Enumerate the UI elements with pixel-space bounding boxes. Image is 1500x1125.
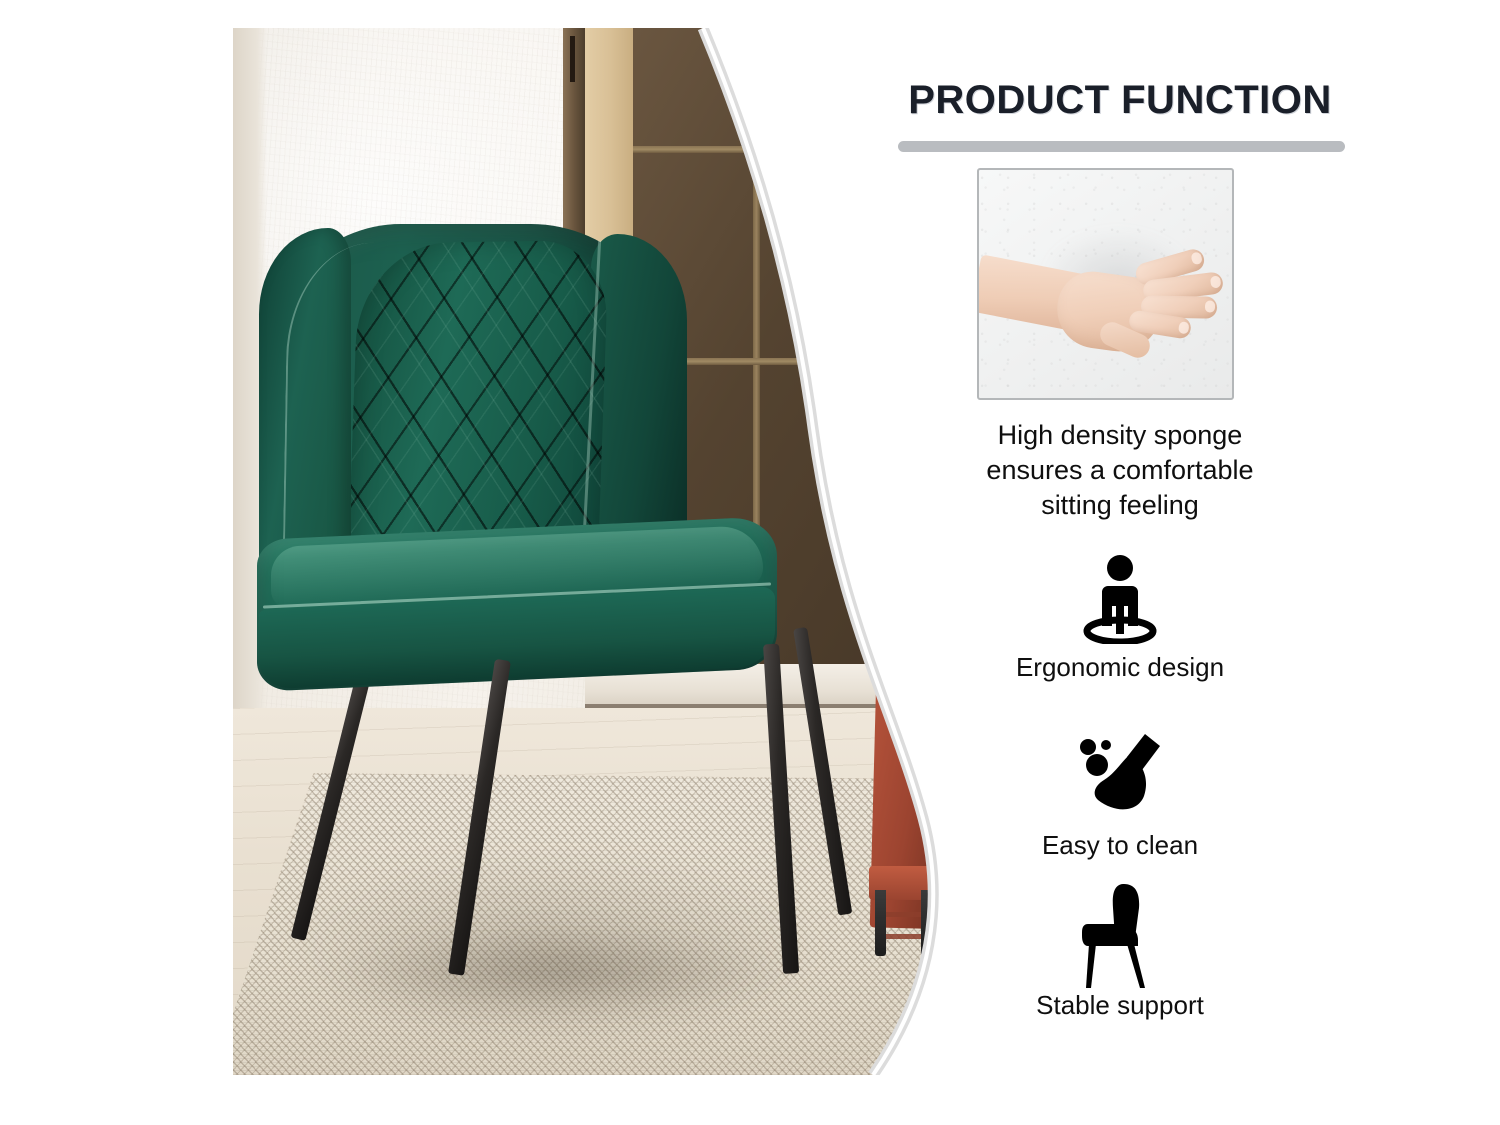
feature-label-stable-support: Stable support xyxy=(820,990,1420,1021)
high-density-foam-photo xyxy=(977,168,1234,400)
foam-feature-caption: High density sponge ensures a comfortabl… xyxy=(820,418,1420,523)
product-function-infographic: PRODUCT FUNCTION High density sponge ens… xyxy=(0,0,1500,1125)
feature-column: PRODUCT FUNCTION High density sponge ens… xyxy=(800,60,1440,1080)
foam-caption-line-2: ensures a comfortable xyxy=(820,453,1420,488)
feature-ergonomic-design: Ergonomic design xyxy=(820,552,1420,683)
title-divider xyxy=(898,141,1345,152)
broom-sweeping-icon xyxy=(820,730,1420,822)
chair-leg-front-right xyxy=(763,644,799,974)
foam-caption-line-3: sitting feeling xyxy=(820,488,1420,523)
feature-label-ergonomic-design: Ergonomic design xyxy=(820,652,1420,683)
chair-drop-shadow xyxy=(323,928,793,1018)
feature-easy-to-clean: Easy to clean xyxy=(820,730,1420,861)
feature-stable-support: Stable support xyxy=(820,890,1420,1021)
page-title: PRODUCT FUNCTION xyxy=(800,78,1440,123)
feature-label-easy-to-clean: Easy to clean xyxy=(820,830,1420,861)
chair-leg-back-left xyxy=(291,646,378,941)
chair-silhouette-icon xyxy=(820,890,1420,982)
foam-caption-line-1: High density sponge xyxy=(820,418,1420,453)
person-in-circle-icon xyxy=(820,552,1420,644)
